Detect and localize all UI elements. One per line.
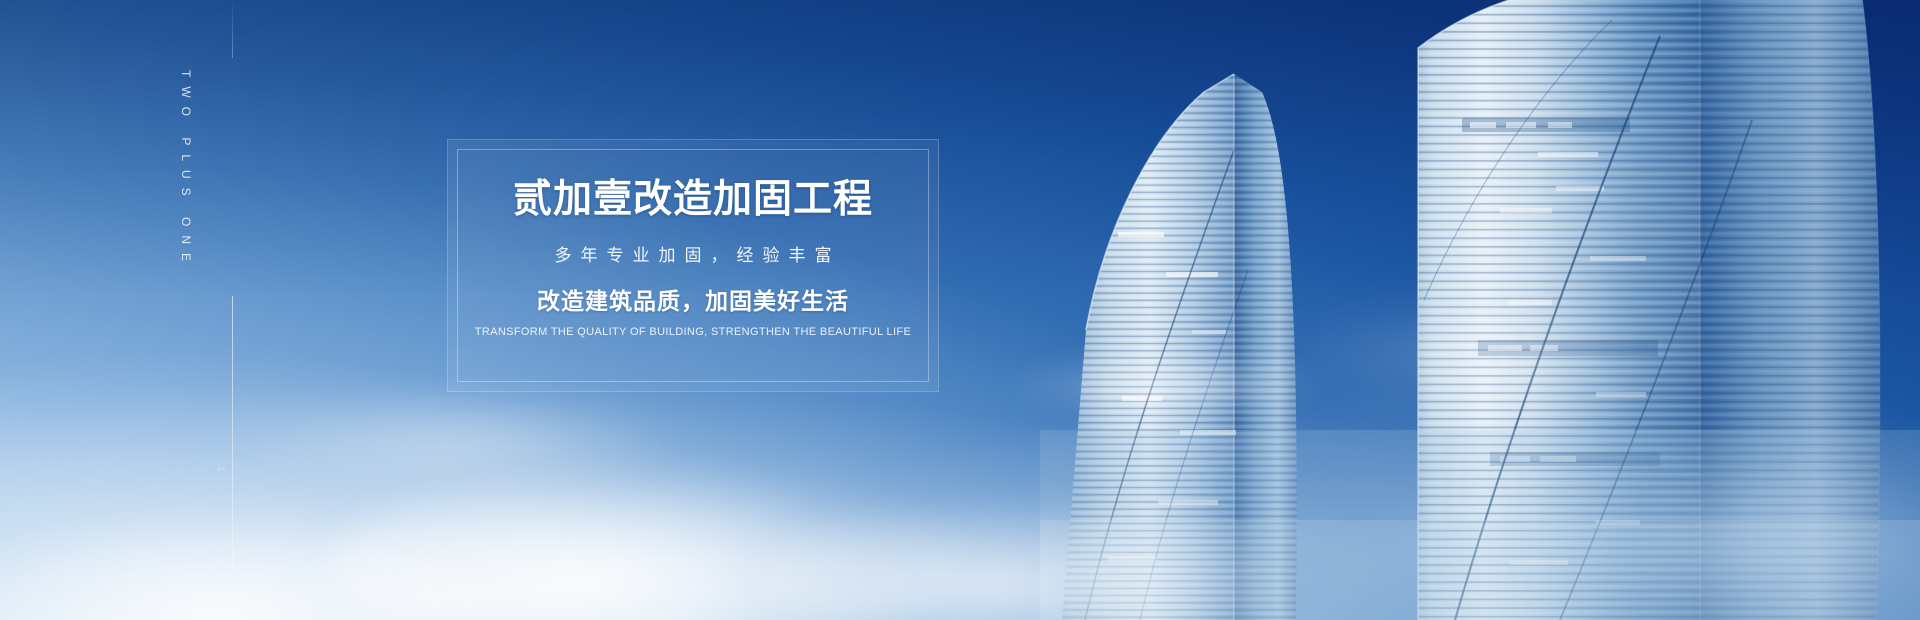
tower-right-mullion-3 (1424, 20, 1612, 300)
brand-vertical-text: TWO PLUS ONE (180, 70, 192, 310)
hero-banner: TWO PLUS ONE 1 贰加壹改造加固工程 多年专业加固，经验丰富 改造建… (0, 0, 1920, 620)
brand-rail: TWO PLUS ONE 1 (152, 0, 272, 620)
tower-left-windows (1108, 232, 1236, 561)
tower-right-mullion-2 (1560, 120, 1752, 620)
rail-line-bottom (232, 296, 233, 620)
tower-right-face (1400, 0, 1720, 620)
tower-right-mech-bands (1462, 118, 1660, 466)
cloud-lower-right (1540, 450, 1920, 620)
tower-left-face (1040, 0, 1260, 620)
cloud-mid-right (1280, 300, 1700, 410)
tower-right-mullion-1 (1455, 36, 1660, 620)
tower-right-windows (1500, 152, 1646, 565)
tower-left-side (1230, 0, 1310, 620)
cloud-wisp (1020, 355, 1320, 415)
skyscraper-illustration (0, 0, 1920, 620)
sky-haze-lower-right (0, 0, 1920, 620)
tower-left-mullion (1085, 150, 1234, 620)
banner-english-tagline: TRANSFORM THE QUALITY OF BUILDING, STREN… (475, 327, 911, 338)
banner-subtitle: 多年专业加固，经验丰富 (546, 247, 841, 264)
cloud-lower-center (330, 470, 970, 620)
sky-haze-lower-left (0, 0, 1920, 620)
sky-vignette-top (0, 0, 1920, 620)
tower-right-side (1690, 0, 1900, 620)
cloud-thin-mid (250, 400, 670, 486)
tower-left-mullion-2 (1140, 270, 1248, 620)
headline-copy: 贰加壹改造加固工程 多年专业加固，经验丰富 改造建筑品质，加固美好生活 TRAN… (447, 139, 939, 392)
banner-slogan: 改造建筑品质，加固美好生活 (537, 290, 849, 313)
banner-title: 贰加壹改造加固工程 (513, 180, 873, 219)
rail-line-top (232, 0, 233, 58)
rail-mark: 1 (215, 466, 226, 473)
cloud-bottom-center (760, 505, 1280, 620)
